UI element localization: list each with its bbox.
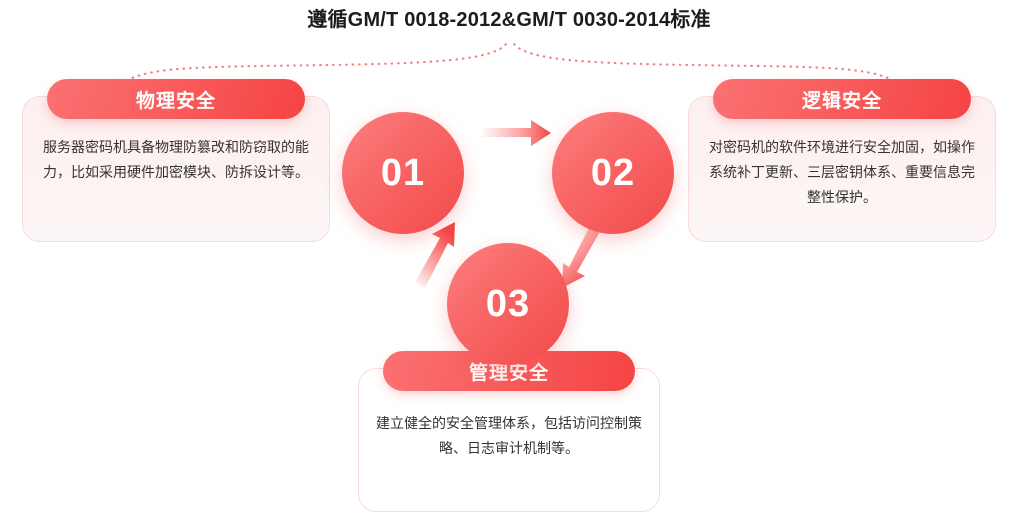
step-circle-03[interactable]: 03 <box>447 243 569 365</box>
arrow-down-left-icon <box>562 222 602 288</box>
arrow-right-icon <box>480 120 551 146</box>
card-heading-pill-logical: 逻辑安全 <box>713 79 971 119</box>
card-body-logical: 对密码机的软件环境进行安全加固，如操作系统补丁更新、三层密钥体系、重要信息完整性… <box>703 135 981 210</box>
page-title: 遵循GM/T 0018-2012&GM/T 0030-2014标准 <box>0 6 1018 34</box>
step-number-03: 03 <box>486 283 530 326</box>
card-physical-security[interactable]: 物理安全 服务器密码机具备物理防篡改和防窃取的能力，比如采用硬件加密模块、防拆设… <box>22 96 330 242</box>
arrow-up-right-icon <box>415 222 455 288</box>
card-heading-pill-physical: 物理安全 <box>47 79 305 119</box>
step-number-02: 02 <box>591 152 635 195</box>
card-management-security[interactable]: 管理安全 建立健全的安全管理体系，包括访问控制策略、日志审计机制等。 <box>358 368 660 512</box>
card-logical-security[interactable]: 逻辑安全 对密码机的软件环境进行安全加固，如操作系统补丁更新、三层密钥体系、重要… <box>688 96 996 242</box>
step-circle-02[interactable]: 02 <box>552 112 674 234</box>
card-body-management: 建立健全的安全管理体系，包括访问控制策略、日志审计机制等。 <box>373 411 645 461</box>
step-circle-01[interactable]: 01 <box>342 112 464 234</box>
step-number-01: 01 <box>381 152 425 195</box>
card-body-physical: 服务器密码机具备物理防篡改和防窃取的能力，比如采用硬件加密模块、防拆设计等。 <box>37 135 315 185</box>
diagram-canvas: 遵循GM/T 0018-2012&GM/T 0030-2014标准 <box>0 0 1018 522</box>
